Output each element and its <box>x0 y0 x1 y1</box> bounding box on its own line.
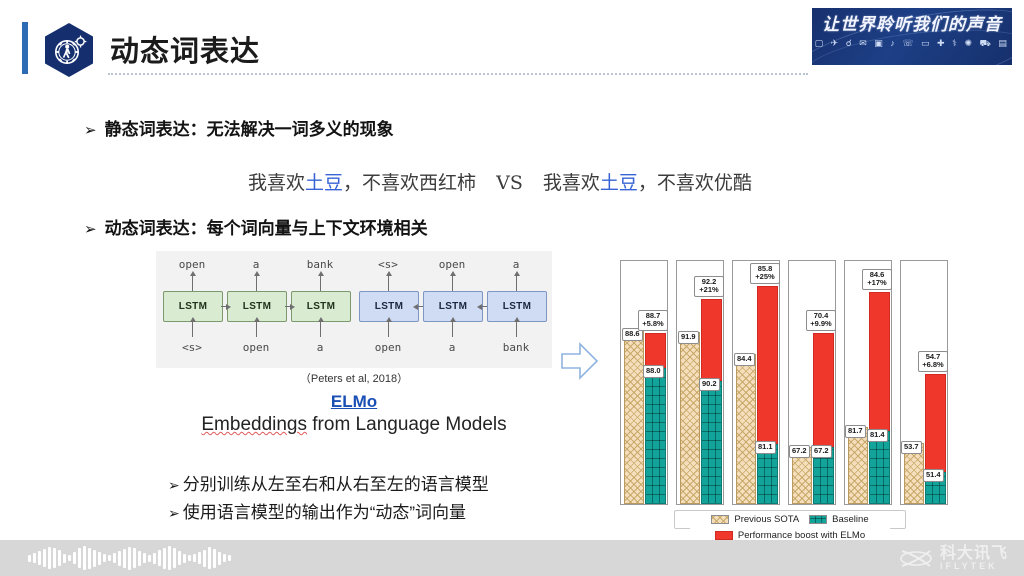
bar-previous-sota <box>680 332 700 504</box>
legend-baseline: Baseline <box>809 514 868 525</box>
bullet-static-label: 静态词表达：无法解决一词多义的现象 <box>105 120 394 139</box>
slide-header: 动态词表达 让世界聆听我们的声音 ▢ ✈ ☌ ✉ ▣ ♪ ☏ ▭ ✚ ⚕ ✺ ⛟… <box>0 0 1024 92</box>
chart-column-ner: NER 91.9 90.2 92.2 +21% <box>676 260 724 505</box>
fwd-input-token: open <box>224 341 288 354</box>
example-separator: VS <box>482 172 537 194</box>
bar-baseline <box>701 381 722 504</box>
bwd-input-arrow-icon <box>516 321 517 337</box>
title-accent-bar <box>22 22 28 74</box>
legend-label: Performance boost with ELMo <box>738 530 865 541</box>
bar-elmo-boost <box>925 374 946 472</box>
sub-bullet-dynamic-output: ➢使用语言模型的输出作为“动态”词向量 <box>168 498 466 523</box>
bar-baseline <box>645 368 666 504</box>
iflytek-mark-icon <box>899 547 933 569</box>
fwd-up-arrow-icon <box>320 275 321 291</box>
example-left-pre: 我喜欢 <box>248 172 305 194</box>
label-elmo-result: 70.4 +9.9% <box>806 310 836 331</box>
label-elmo-percent: +5.8% <box>642 319 663 328</box>
bar-previous-sota <box>736 354 756 504</box>
bwd-recurrence-arrow-icon <box>481 306 487 307</box>
chart-column-squad: SQuAD 84.4 81.1 85.8 +25% <box>732 260 780 505</box>
bwd-input-token: bank <box>484 341 548 354</box>
sub-bullet-bidirectional-training: ➢分别训练从左至右和从右至左的语言模型 <box>168 470 489 495</box>
bwd-output-token: a <box>484 258 548 271</box>
iflytek-logo-cn: 科大讯飞 <box>940 546 1008 562</box>
bar-elmo-boost <box>757 286 778 444</box>
label-previous-sota: 81.7 <box>845 425 866 438</box>
bwd-input-token: open <box>356 341 420 354</box>
chart-panel: 88.6 88.0 88.7 +5.8% <box>620 260 668 505</box>
bwd-input-arrow-icon <box>388 321 389 337</box>
right-arrow-icon <box>560 340 600 382</box>
sub-bullet-marker-icon: ➢ <box>168 477 183 493</box>
fwd-output-token: bank <box>288 258 352 271</box>
bar-elmo-boost <box>645 333 666 368</box>
label-elmo-percent: +9.9% <box>810 319 831 328</box>
chart-column-coref: Coref 67.2 67.2 70.4 +9.9% <box>788 260 836 505</box>
bwd-up-arrow-icon <box>516 275 517 291</box>
fwd-up-arrow-icon <box>256 275 257 291</box>
bar-elmo-boost <box>701 299 722 381</box>
example-right-pre: 我喜欢 <box>543 172 600 194</box>
elmo-expansion-rest: from Language Models <box>307 414 507 435</box>
chart-panel: 81.7 81.4 84.6 +17% <box>844 260 892 505</box>
chart-panel: 67.2 67.2 70.4 +9.9% <box>788 260 836 505</box>
brand-slogan: 让世界聆听我们的声音 <box>812 10 1012 35</box>
slide-footer: 科大讯飞 iFLYTEK <box>0 540 1024 576</box>
legend-swatch-baseline-icon <box>809 515 827 524</box>
page-title: 动态词表达 <box>110 28 260 70</box>
fwd-output-token: open <box>160 258 224 271</box>
legend-label: Previous SOTA <box>734 514 799 525</box>
chart-panel: 84.4 81.1 85.8 +25% <box>732 260 780 505</box>
bwd-input-token: a <box>420 341 484 354</box>
elmo-expansion: Embeddings from Language Models <box>156 414 552 436</box>
label-elmo-percent: +25% <box>755 272 774 281</box>
bwd-recurrence-arrow-icon <box>417 306 423 307</box>
bullet-dynamic-label: 动态词表达：每个词向量与上下文环境相关 <box>105 219 428 238</box>
example-left-post: ，不喜欢西红柿 <box>343 172 476 194</box>
brand-banner: 让世界聆听我们的声音 ▢ ✈ ☌ ✉ ▣ ♪ ☏ ▭ ✚ ⚕ ✺ ⛟ ▤ <box>812 8 1012 65</box>
sub-bullet-label: 使用语言模型的输出作为“动态”词向量 <box>183 503 466 522</box>
brand-icon-row: ▢ ✈ ☌ ✉ ▣ ♪ ☏ ▭ ✚ ⚕ ✺ ⛟ ▤ <box>812 38 1012 50</box>
label-previous-sota: 84.4 <box>734 353 755 366</box>
iflytek-logo: 科大讯飞 iFLYTEK <box>899 544 1008 572</box>
elmo-bilstm-diagram: open a bank <s> open a LSTM LSTM LSTM LS… <box>156 251 552 368</box>
fwd-output-token: a <box>224 258 288 271</box>
legend-swatch-boost-icon <box>715 531 733 540</box>
label-elmo-percent: +21% <box>699 285 718 294</box>
bwd-output-token: open <box>420 258 484 271</box>
bar-elmo-boost <box>869 292 890 431</box>
label-baseline: 81.4 <box>867 429 888 442</box>
bwd-input-arrow-icon <box>452 321 453 337</box>
label-elmo-result: 85.8 +25% <box>750 263 780 284</box>
label-previous-sota: 67.2 <box>789 445 810 458</box>
chart-column-snli: SNLI 88.6 88.0 88.7 +5.8% <box>620 260 668 505</box>
legend-label: Baseline <box>832 514 868 525</box>
label-baseline: 81.1 <box>755 441 776 454</box>
elmo-benchmark-chart: SNLI 88.6 88.0 88.7 +5.8% NER 91.9 90.2 … <box>616 238 946 534</box>
bwd-up-arrow-icon <box>388 275 389 291</box>
bar-previous-sota <box>848 427 868 504</box>
chart-panel: 91.9 90.2 92.2 +21% <box>676 260 724 505</box>
fwd-input-arrow-icon <box>256 321 257 337</box>
bwd-output-token: <s> <box>356 258 420 271</box>
bullet-static-word-representation: ➢静态词表达：无法解决一词多义的现象 <box>84 115 394 140</box>
label-baseline: 67.2 <box>811 445 832 458</box>
label-elmo-percent: +6.8% <box>922 360 943 369</box>
chart-column-srl: SRL 81.7 81.4 84.6 +17% <box>844 260 892 505</box>
chart-panel: 53.7 51.4 54.7 +6.8% <box>900 260 948 505</box>
elmo-abbreviation: ELMo <box>156 392 552 412</box>
chart-column-sst5: SST-5 53.7 51.4 54.7 +6.8% <box>900 260 948 505</box>
fwd-input-arrow-icon <box>320 321 321 337</box>
fwd-input-token: <s> <box>160 341 224 354</box>
fwd-input-arrow-icon <box>192 321 193 337</box>
label-previous-sota: 91.9 <box>678 331 699 344</box>
bwd-up-arrow-icon <box>452 275 453 291</box>
label-baseline: 88.0 <box>643 365 664 378</box>
fwd-recurrence-arrow-icon <box>221 306 227 307</box>
fwd-up-arrow-icon <box>192 275 193 291</box>
iflytek-logo-en: iFLYTEK <box>940 562 1008 571</box>
label-previous-sota: 53.7 <box>901 441 922 454</box>
legend-elmo-boost: Performance boost with ELMo <box>715 530 865 541</box>
label-elmo-result: 92.2 +21% <box>694 276 724 297</box>
label-elmo-result: 84.6 +17% <box>862 269 892 290</box>
elmo-expansion-spellchecked-word: Embeddings <box>201 414 307 435</box>
bullet-marker-icon: ➢ <box>84 122 105 139</box>
sub-bullet-marker-icon-2: ➢ <box>168 505 183 521</box>
figure-citation: （Peters et al, 2018） <box>156 370 552 386</box>
legend-previous-sota: Previous SOTA <box>711 514 799 525</box>
bar-previous-sota <box>624 328 644 504</box>
example-right-highlight: 土豆 <box>600 172 638 194</box>
fwd-input-token: a <box>288 341 352 354</box>
label-baseline: 90.2 <box>699 378 720 391</box>
bullet-dynamic-word-representation: ➢动态词表达：每个词向量与上下文环境相关 <box>84 214 428 239</box>
label-elmo-result: 54.7 +6.8% <box>918 351 948 372</box>
fwd-recurrence-arrow-icon <box>285 306 291 307</box>
label-elmo-percent: +17% <box>867 278 886 287</box>
waveform-icon <box>28 546 231 570</box>
bar-elmo-boost <box>813 333 834 447</box>
legend-swatch-sota-icon <box>711 515 729 524</box>
title-divider <box>108 73 808 75</box>
label-elmo-result: 88.7 +5.8% <box>638 310 668 331</box>
example-right-post: ，不喜欢优酷 <box>638 172 752 194</box>
example-left-highlight: 土豆 <box>305 172 343 194</box>
gear-person-hexagon-icon <box>42 22 96 78</box>
sub-bullet-label: 分别训练从左至右和从右至左的语言模型 <box>183 475 489 494</box>
label-baseline: 51.4 <box>923 469 944 482</box>
bullet-marker-icon-2: ➢ <box>84 221 105 238</box>
polysemy-example: 我喜欢土豆，不喜欢西红柿 VS 我喜欢土豆，不喜欢优酷 <box>248 168 752 195</box>
